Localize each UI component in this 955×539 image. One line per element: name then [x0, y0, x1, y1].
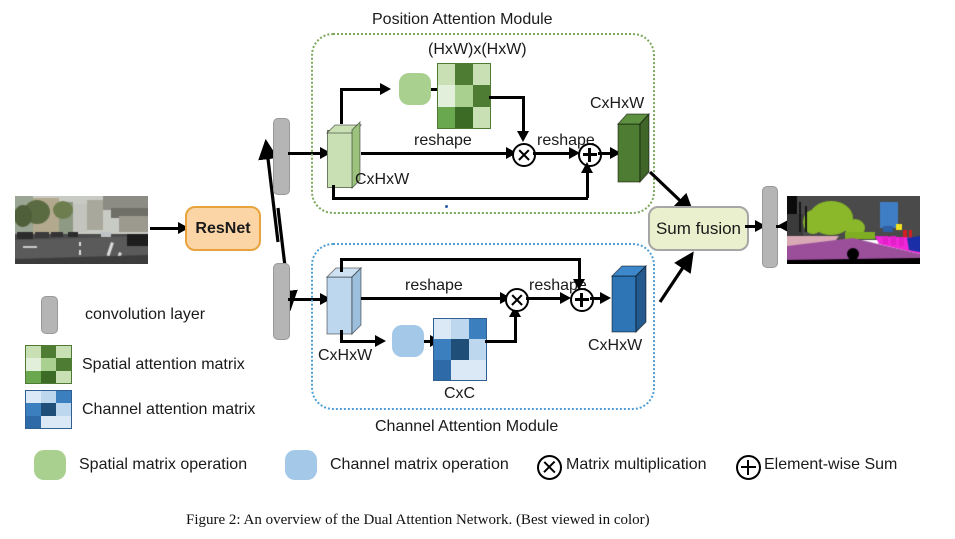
position-input-dim-label: CxHxW: [355, 172, 409, 188]
matrix-cell: [434, 360, 451, 380]
channel-sum-to-output-arrow: [600, 292, 611, 304]
position-matrix-down-arrow: [517, 131, 529, 142]
matrix-cell: [469, 319, 486, 339]
position-branch-up-arrow: [380, 83, 391, 95]
matrix-cell: [41, 416, 56, 428]
matrix-cell: [41, 403, 56, 415]
channel-matrix-dim-label: CxC: [444, 386, 475, 402]
channel-input-tensor: [327, 268, 361, 334]
sum-fusion-block: Sum fusion: [648, 206, 749, 251]
position-matrix-down-line: [522, 96, 525, 136]
matrix-cell: [438, 85, 455, 106]
legend-label-channel-attention-matrix: Channel attention matrix: [82, 402, 255, 418]
matrix-cell: [41, 371, 56, 383]
legend-swatch-spatial-attention-matrix: [25, 345, 72, 384]
matrix-cell: [41, 346, 56, 358]
position-reshape-1-label: reshape: [414, 133, 472, 149]
matrix-cell: [473, 64, 490, 85]
matrix-cell: [455, 107, 472, 128]
matrix-cell: [26, 403, 41, 415]
channel-output-dim-label: CxHxW: [588, 338, 642, 354]
matrix-cell: [56, 403, 71, 415]
legend-label-channel-matrix-operation: Channel matrix operation: [330, 457, 509, 473]
matrix-cell: [451, 360, 468, 380]
position-matrix-dim-label: (HxW)x(HxW): [428, 42, 527, 58]
legend-swatch-channel-attention-matrix: [25, 390, 72, 429]
channel-branch-to-op-arrow: [375, 335, 386, 347]
matrix-cell: [451, 339, 468, 359]
cuboid-front-face: [327, 130, 353, 188]
channel-reshape-1-label: reshape: [405, 278, 463, 294]
matrix-cell: [41, 358, 56, 370]
position-matrix-multiplication-op: [512, 143, 536, 167]
legend-label-spatial-attention-matrix: Spatial attention matrix: [82, 357, 245, 373]
channel-reshape-1-line: [361, 297, 508, 300]
matrix-cell: [455, 85, 472, 106]
legend-label-spatial-matrix-operation: Spatial matrix operation: [79, 457, 247, 473]
matrix-cell: [56, 416, 71, 428]
position-branch-up-to-op-line: [340, 88, 385, 91]
position-skip-up-arrow: [581, 162, 593, 173]
matrix-cell: [455, 64, 472, 85]
input-image: [15, 196, 148, 264]
legend-swatch-element-wise-sum: [736, 455, 761, 480]
matrix-cell: [41, 391, 56, 403]
matrix-cell: [438, 107, 455, 128]
matrix-cell: [56, 391, 71, 403]
channel-matrix-multiplication-op: [505, 288, 529, 312]
matrix-cell: [56, 346, 71, 358]
matrix-cell: [434, 339, 451, 359]
position-module-title: Position Attention Module: [372, 12, 553, 28]
channel-matrix-operation-box: [392, 325, 424, 357]
position-skip-bottom-line: [332, 197, 588, 200]
matrix-cell: [26, 391, 41, 403]
resnet-label: ResNet: [195, 220, 250, 238]
position-skip-marker-dot: [445, 205, 448, 208]
matrix-cell: [473, 107, 490, 128]
arrow-input-to-resnet-line: [150, 227, 180, 230]
matrix-cell: [469, 360, 486, 380]
legend-label-element-wise-sum: Element-wise Sum: [764, 457, 897, 473]
matrix-cell: [26, 371, 41, 383]
channel-branch-to-op-line: [340, 340, 380, 343]
channel-attention-matrix: [433, 318, 487, 381]
spatial-attention-matrix: [437, 63, 491, 129]
legend-label-matrix-multiplication: Matrix multiplication: [566, 457, 706, 473]
legend-label-convolution-layer: convolution layer: [85, 307, 205, 323]
output-image: [787, 196, 920, 264]
matrix-cell: [26, 416, 41, 428]
position-branch-up-line: [340, 88, 343, 124]
position-matrix-out-line: [489, 96, 525, 99]
channel-module-title: Channel Attention Module: [375, 419, 558, 435]
position-output-dim-label: CxHxW: [590, 96, 644, 112]
matrix-cell: [56, 371, 71, 383]
spatial-matrix-operation-box: [399, 73, 431, 105]
matrix-cell: [26, 346, 41, 358]
matrix-cell: [473, 85, 490, 106]
legend-swatch-matrix-multiplication: [537, 455, 562, 480]
legend-swatch-convolution-layer: [41, 296, 58, 334]
sum-fusion-label: Sum fusion: [656, 219, 741, 239]
channel-skip-top-line: [340, 258, 580, 261]
position-reshape-1-line: [361, 152, 513, 155]
figure-caption: Figure 2: An overview of the Dual Attent…: [186, 512, 650, 529]
matrix-cell: [438, 64, 455, 85]
legend-swatch-spatial-matrix-operation: [34, 450, 66, 480]
matrix-cell: [451, 319, 468, 339]
legend-swatch-channel-matrix-operation: [285, 450, 317, 480]
channel-matrix-out-line: [485, 340, 517, 343]
channel-input-dim-label: CxHxW: [318, 348, 372, 364]
channel-elementwise-sum-op: [570, 288, 594, 312]
matrix-cell: [469, 339, 486, 359]
matrix-cell: [434, 319, 451, 339]
conv-layer-bar-bottom: [273, 263, 290, 340]
matrix-cell: [26, 358, 41, 370]
channel-skip-down-arrow: [573, 279, 585, 290]
matrix-cell: [56, 358, 71, 370]
conv-layer-bar-top: [273, 118, 290, 195]
figure-dual-attention-network: ResNet Position Attention Module (HxW)x(…: [0, 0, 955, 539]
